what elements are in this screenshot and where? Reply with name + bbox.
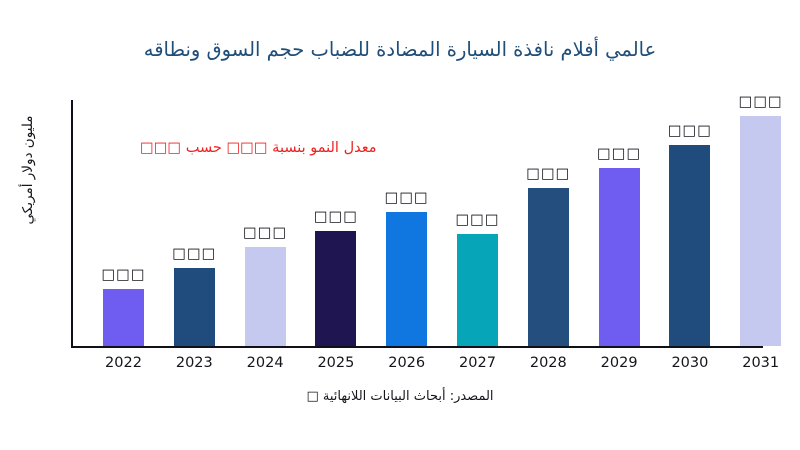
x-tick-2031: 2031 xyxy=(731,355,791,371)
x-axis-line xyxy=(71,346,763,348)
bar-rect-2024[interactable] xyxy=(245,247,286,346)
bar-value-label-2027: □□□ xyxy=(455,212,499,228)
bar-value-label-2024: □□□ xyxy=(243,225,287,241)
x-tick-2023: 2023 xyxy=(164,355,224,371)
bar-rect-2027[interactable] xyxy=(457,234,498,346)
x-tick-2024: 2024 xyxy=(235,355,295,371)
bar-series: □□□□□□□□□□□□□□□□□□□□□□□□□□□□□□ xyxy=(71,100,771,346)
bar-value-label-2029: □□□ xyxy=(597,146,641,162)
y-axis-label: مليون دولار أمريكي xyxy=(20,70,36,270)
x-tick-2029: 2029 xyxy=(589,355,649,371)
bar-2028[interactable]: □□□ xyxy=(528,188,569,346)
chart-title: عالمي أفلام نافذة السيارة المضادة للضباب… xyxy=(0,38,800,61)
x-tick-2022: 2022 xyxy=(94,355,154,371)
bar-rect-2029[interactable] xyxy=(599,168,640,346)
bar-2025[interactable]: □□□ xyxy=(315,231,356,346)
bar-2030[interactable]: □□□ xyxy=(669,145,710,346)
source-note: المصدر: أبحاث البيانات اللانهائية □ xyxy=(0,389,800,404)
x-tick-2026: 2026 xyxy=(377,355,437,371)
bar-2029[interactable]: □□□ xyxy=(599,168,640,346)
plot-area: □□□□□□□□□□□□□□□□□□□□□□□□□□□□□□ xyxy=(71,100,771,348)
bar-2026[interactable]: □□□ xyxy=(386,212,427,346)
bar-rect-2023[interactable] xyxy=(174,268,215,346)
bar-value-label-2023: □□□ xyxy=(172,246,216,262)
bar-rect-2028[interactable] xyxy=(528,188,569,346)
x-axis-tick-labels: 2022202320242025202620272028202920302031 xyxy=(71,355,791,377)
bar-value-label-2026: □□□ xyxy=(385,190,429,206)
chart-container: عالمي أفلام نافذة السيارة المضادة للضباب… xyxy=(0,0,800,450)
bar-value-label-2022: □□□ xyxy=(101,267,145,283)
x-tick-2030: 2030 xyxy=(660,355,720,371)
x-tick-2027: 2027 xyxy=(448,355,508,371)
bar-value-label-2025: □□□ xyxy=(314,209,358,225)
bar-value-label-2030: □□□ xyxy=(668,123,712,139)
bar-2031[interactable]: □□□ xyxy=(740,116,781,346)
bar-rect-2022[interactable] xyxy=(103,289,144,346)
bar-rect-2031[interactable] xyxy=(740,116,781,346)
bar-value-label-2031: □□□ xyxy=(739,94,783,110)
bar-rect-2026[interactable] xyxy=(386,212,427,346)
bar-2027[interactable]: □□□ xyxy=(457,234,498,346)
bar-2024[interactable]: □□□ xyxy=(245,247,286,346)
growth-rate-annotation: معدل النمو بنسبة □□□ حسب □□□ xyxy=(140,140,376,156)
bar-rect-2030[interactable] xyxy=(669,145,710,346)
bar-2022[interactable]: □□□ xyxy=(103,289,144,346)
x-tick-2025: 2025 xyxy=(306,355,366,371)
bar-rect-2025[interactable] xyxy=(315,231,356,346)
x-tick-2028: 2028 xyxy=(518,355,578,371)
bar-2023[interactable]: □□□ xyxy=(174,268,215,346)
bar-value-label-2028: □□□ xyxy=(526,166,570,182)
